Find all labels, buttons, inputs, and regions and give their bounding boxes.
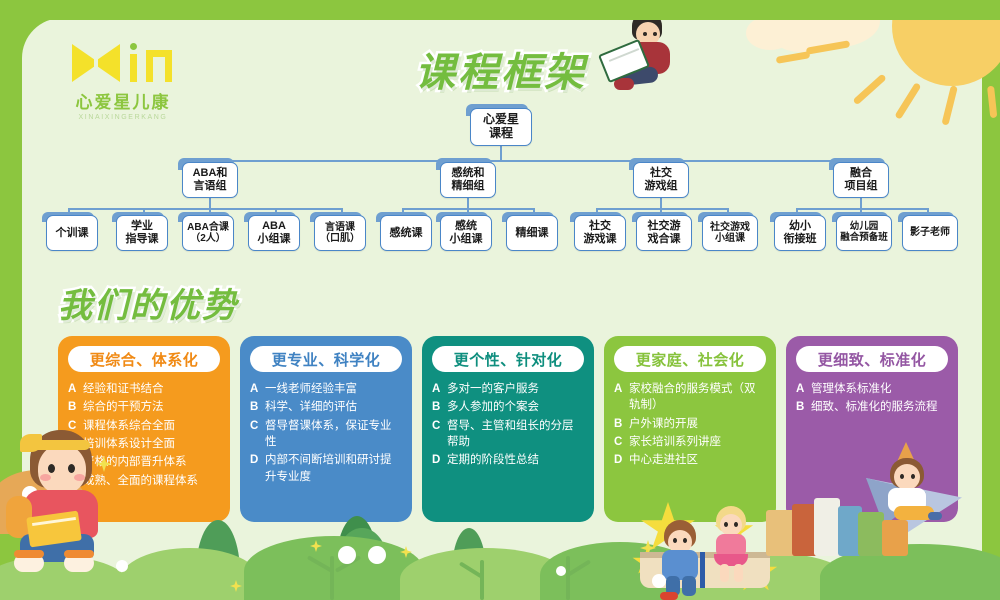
advantage-item: B科学、详细的评估 xyxy=(250,399,402,415)
reading-girl-illustration xyxy=(2,430,122,580)
advantage-card-heading: 更综合、体系化 xyxy=(68,346,220,372)
advantage-item: D定期的阶段性总结 xyxy=(432,452,584,468)
connector-root-bus xyxy=(208,160,861,162)
tree-leaf-node[interactable]: 言语课（口肌） xyxy=(314,215,366,251)
advantage-card-heading: 更细致、标准化 xyxy=(796,346,948,372)
advantage-item: B综合的干预方法 xyxy=(68,399,220,415)
tree-leaf-node[interactable]: ABA小组课 xyxy=(248,215,300,251)
advantage-item-list: A一线老师经验丰富 B科学、详细的评估 C督导督课体系，保证专业性 D内部不间断… xyxy=(250,381,402,485)
connector-group-3-bus xyxy=(596,208,728,210)
advantage-item: C督导督课体系，保证专业性 xyxy=(250,418,402,451)
tree-leaf-node[interactable]: 影子老师 xyxy=(902,215,958,251)
tree-leaf-node[interactable]: 感统课 xyxy=(380,215,432,251)
advantage-cards: 更综合、体系化 A经验和证书结合 B综合的干预方法 C课程体系综合全面 D培训体… xyxy=(0,336,1000,526)
tree-leaf-node[interactable]: ABA合课（2人） xyxy=(182,215,234,251)
advantages-title: 我们的优势 xyxy=(58,278,238,327)
advantage-card-heading: 更个性、针对化 xyxy=(432,346,584,372)
top-green-band xyxy=(0,0,1000,20)
tree-group-node-2[interactable]: 感统和精细组 xyxy=(440,162,496,198)
advantage-item: D中心走进社区 xyxy=(614,452,766,468)
tree-leaf-node[interactable]: 幼小衔接班 xyxy=(774,215,826,251)
advantage-card-2[interactable]: 更专业、科学化 A一线老师经验丰富 B科学、详细的评估 C督导督课体系，保证专业… xyxy=(240,336,412,522)
advantage-item: A管理体系标准化 xyxy=(796,381,948,397)
connector-group-1-bus xyxy=(68,208,343,210)
advantage-item-list: A管理体系标准化 B细致、标准化的服务流程 xyxy=(796,381,948,416)
advantage-item: C家长培训系列讲座 xyxy=(614,434,766,450)
advantage-card-3[interactable]: 更个性、针对化 A多对一的客户服务 B多人参加的个案会 C督导、主管和组长的分层… xyxy=(422,336,594,522)
connector-group-4-bus xyxy=(796,208,928,210)
advantage-item: B多人参加的个案会 xyxy=(432,399,584,415)
tree-group-node-3[interactable]: 社交游戏组 xyxy=(633,162,689,198)
advantage-card-heading: 更家庭、社会化 xyxy=(614,346,766,372)
advantage-item-list: A家校融合的服务模式（双轨制） B户外课的开展 C家长培训系列讲座 D中心走进社… xyxy=(614,381,766,469)
tree-group-node-4[interactable]: 融合项目组 xyxy=(833,162,889,198)
tree-leaf-node[interactable]: 社交游戏课 xyxy=(574,215,626,251)
course-framework-tree: 心爱星课程 ABA和言语组 个训课 学业指导课 ABA合课（2人） xyxy=(0,100,1000,270)
tree-leaf-node[interactable]: 幼儿园融合预备班 xyxy=(836,215,892,251)
page-title: 课程框架 xyxy=(415,40,587,98)
tree-root-node[interactable]: 心爱星课程 xyxy=(470,108,532,146)
tree-root-label: 心爱星课程 xyxy=(483,113,519,141)
advantage-item: A家校融合的服务模式（双轨制） xyxy=(614,381,766,414)
tree-group-node-1[interactable]: ABA和言语组 xyxy=(182,162,238,198)
poster-canvas: 心爱星儿康 XINAIXINGERKANG 课程框架 心爱星课程 A xyxy=(0,0,1000,600)
tree-leaf-node[interactable]: 社交游戏合课 xyxy=(636,215,692,251)
advantage-item: A一线老师经验丰富 xyxy=(250,381,402,397)
advantage-item: D内部不间断培训和研讨提升专业度 xyxy=(250,452,402,485)
tree-leaf-node[interactable]: 感统小组课 xyxy=(440,215,492,251)
advantage-item-list: A多对一的客户服务 B多人参加的个案会 C督导、主管和组长的分层帮助 D定期的阶… xyxy=(432,381,584,469)
butterfly-logo-icon xyxy=(68,42,178,86)
advantage-card-4[interactable]: 更家庭、社会化 A家校融合的服务模式（双轨制） B户外课的开展 C家长培训系列讲… xyxy=(604,336,776,522)
advantage-item: C督导、主管和组长的分层帮助 xyxy=(432,418,584,451)
advantage-item: A经验和证书结合 xyxy=(68,381,220,397)
tree-leaf-node[interactable]: 学业指导课 xyxy=(116,215,168,251)
tree-leaf-node[interactable]: 社交游戏小组课 xyxy=(702,215,758,251)
advantage-card-heading: 更专业、科学化 xyxy=(250,346,402,372)
tree-leaf-node[interactable]: 个训课 xyxy=(46,215,98,251)
tree-leaf-node[interactable]: 精细课 xyxy=(506,215,558,251)
reading-boy-illustration xyxy=(602,12,684,96)
advantage-item: B细致、标准化的服务流程 xyxy=(796,399,948,415)
advantage-item: B户外课的开展 xyxy=(614,416,766,432)
advantage-item: A多对一的客户服务 xyxy=(432,381,584,397)
